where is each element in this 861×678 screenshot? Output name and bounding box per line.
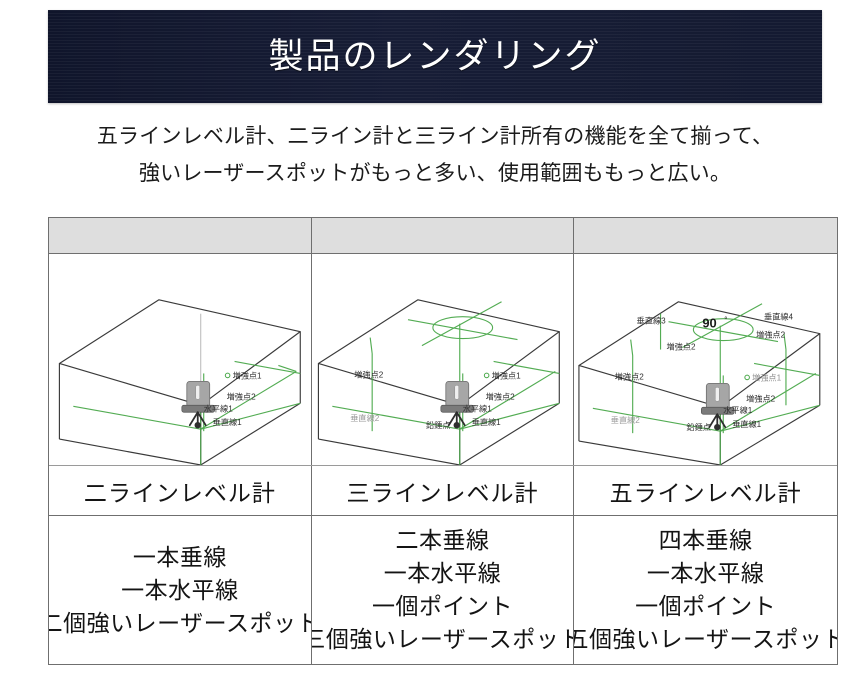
page-header-banner: 製品のレンダリング <box>48 10 822 103</box>
label-enhance-2-left: 増強点2 <box>615 371 644 381</box>
diagram-cell-two-line: 増強点1 増強点2 水平線1 垂直線1 <box>49 254 312 465</box>
product-name-three-line: 三ラインレベル計 <box>347 474 539 508</box>
label-vert-4: 垂直線4 <box>764 312 793 322</box>
feature-item: 一本垂線 <box>133 541 227 574</box>
feature-item: 四本垂線 <box>659 524 753 557</box>
label-vert-3: 垂直線3 <box>637 316 666 326</box>
features-cell-five-line: 四本垂線 一本水平線 一個ポイント 五個強いレーザースポット <box>574 516 837 664</box>
page-title: 製品のレンダリング <box>268 39 601 74</box>
table-header-cell-3 <box>574 218 837 253</box>
label-enhance-1: 増強点1 <box>752 372 781 382</box>
label-horiz-1: 水平線1 <box>462 403 491 413</box>
features-cell-two-line: 一本垂線 一本水平線 二個強いレーザースポット <box>49 516 312 664</box>
feature-item: 一個ポイント <box>635 590 776 623</box>
feature-item: 一本水平線 <box>647 557 765 590</box>
label-enhance-1: 増強点1 <box>491 370 520 380</box>
label-enhance-1: 増強点1 <box>233 370 262 380</box>
name-cell-two-line: 二ラインレベル計 <box>49 466 312 515</box>
label-plumb-point: 鉛錘点 <box>687 422 711 432</box>
ceiling-ellipse-icon <box>433 317 493 339</box>
label-vert-2: 垂直線2 <box>611 415 640 425</box>
feature-item: 二本垂線 <box>396 524 490 557</box>
angle-label: 90 <box>703 316 717 331</box>
product-name-five-line: 五ラインレベル計 <box>610 474 802 508</box>
label-horiz-1: 水平線1 <box>724 405 753 415</box>
label-vert-1: 垂直線1 <box>471 417 500 427</box>
label-enhance-2-mid: 増強点2 <box>667 342 696 352</box>
label-vert-2: 垂直線2 <box>350 413 379 423</box>
diagram-cell-five-line: 垂直線3 垂直線4 増強点2 増強点2 増強点2 垂直線2 増強点1 増強点2 … <box>574 254 837 465</box>
subtitle-line-2: 強いレーザースポットがもっと多い、使用範囲ももっと広い。 <box>48 155 822 192</box>
diagram-label-group: 増強点1 増強点2 水平線1 垂直線1 <box>204 370 262 427</box>
feature-item: 三個強いレーザースポット <box>312 623 575 656</box>
label-enhance-2-right: 増強点2 <box>746 393 775 403</box>
label-plumb-point: 鉛錘点 <box>426 420 450 430</box>
feature-item: 二個強いレーザースポット <box>49 607 312 640</box>
subtitle-block: 五ラインレベル計、二ライン計と三ライン計所有の機能を全て揃って、 強いレーザース… <box>48 118 822 192</box>
laser-room-diagram-3line: 増強点2 垂直線2 増強点1 増強点2 水平線1 鉛錘点 垂直線1 <box>312 254 574 465</box>
table-name-row: 二ラインレベル計 三ラインレベル計 五ラインレベル計 <box>49 466 837 516</box>
angle-unit-label: ° <box>725 316 728 325</box>
label-vert-1: 垂直線1 <box>213 417 242 427</box>
label-enhance-2: 増強点2 <box>227 391 256 401</box>
diagram-cell-three-line: 増強点2 垂直線2 増強点1 増強点2 水平線1 鉛錘点 垂直線1 <box>312 254 575 465</box>
label-enhance-2-right: 増強点2 <box>485 391 514 401</box>
subtitle-line-1: 五ラインレベル計、二ライン計と三ライン計所有の機能を全て揃って、 <box>48 118 822 155</box>
diagram-label-group: 増強点2 垂直線2 増強点1 増強点2 水平線1 鉛錘点 垂直線1 <box>350 369 521 430</box>
table-header-cell-2 <box>312 218 575 253</box>
features-cell-three-line: 二本垂線 一本水平線 一個ポイント 三個強いレーザースポット <box>312 516 575 664</box>
table-diagram-row: 増強点1 増強点2 水平線1 垂直線1 <box>49 254 837 466</box>
feature-item: 一本水平線 <box>121 574 239 607</box>
table-header-row <box>49 218 837 254</box>
label-vert-1: 垂直線1 <box>733 419 762 429</box>
product-name-two-line: 二ラインレベル計 <box>84 474 276 508</box>
feature-item: 五個強いレーザースポット <box>574 623 837 656</box>
feature-item: 一本水平線 <box>384 557 502 590</box>
name-cell-three-line: 三ラインレベル計 <box>312 466 575 515</box>
table-header-cell-1 <box>49 218 312 253</box>
name-cell-five-line: 五ラインレベル計 <box>574 466 837 515</box>
label-enhance-2-left: 増強点2 <box>354 369 383 379</box>
label-horiz-1: 水平線1 <box>204 403 233 413</box>
laser-room-diagram-2line: 増強点1 増強点2 水平線1 垂直線1 <box>49 254 311 465</box>
table-features-row: 一本垂線 一本水平線 二個強いレーザースポット 二本垂線 一本水平線 一個ポイン… <box>49 516 837 664</box>
comparison-table: 増強点1 増強点2 水平線1 垂直線1 <box>48 217 838 665</box>
label-enhance-2-top-right: 増強点2 <box>756 330 785 340</box>
feature-item: 一個ポイント <box>372 590 513 623</box>
laser-room-diagram-5line: 垂直線3 垂直線4 増強点2 増強点2 増強点2 垂直線2 増強点1 増強点2 … <box>574 254 837 465</box>
